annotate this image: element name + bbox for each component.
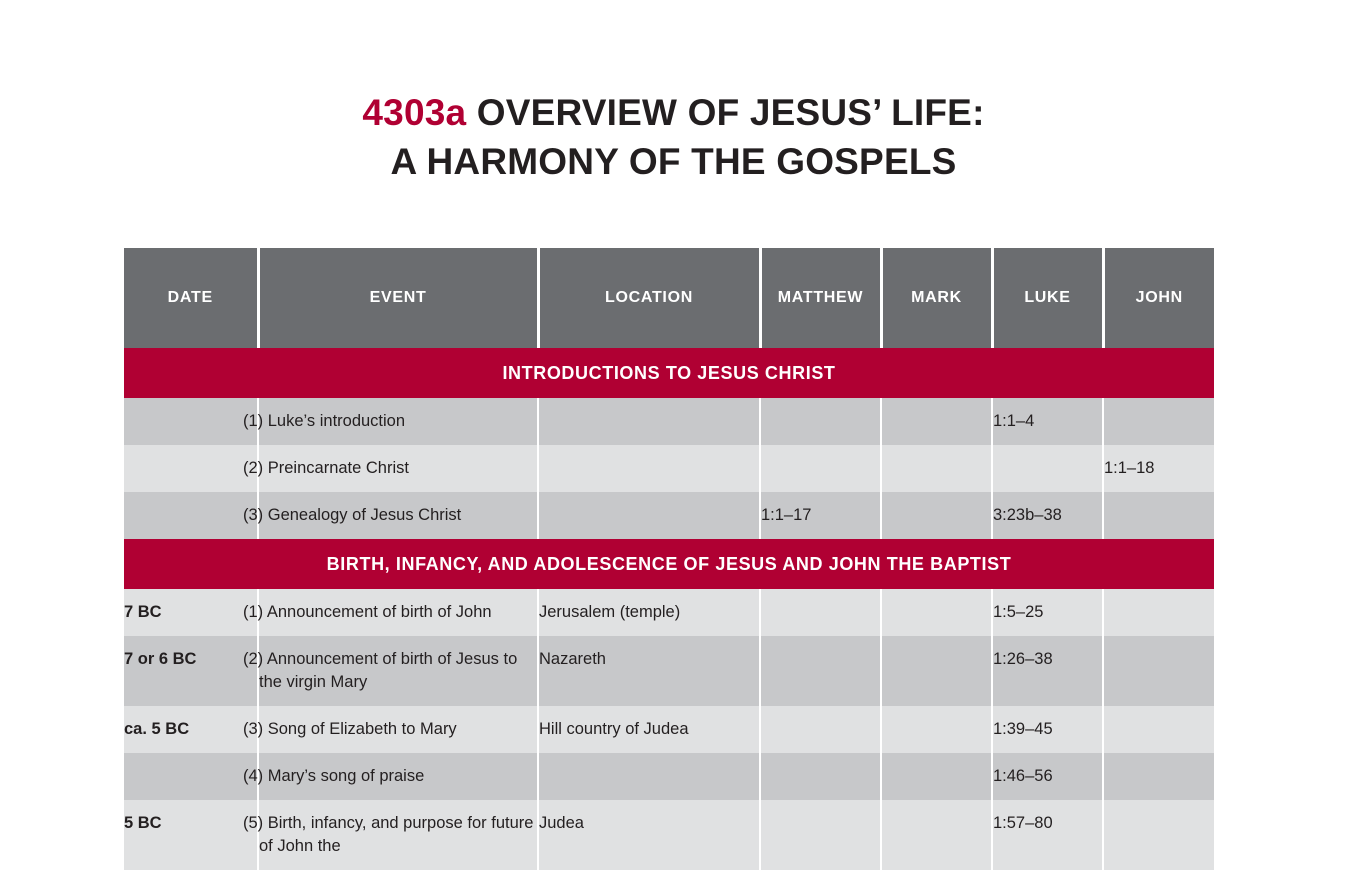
cell-location: Nazareth [538, 636, 760, 706]
cell-date: 5 BC [124, 800, 258, 870]
cell-mark [881, 492, 992, 539]
cell-date: 7 or 6 BC [124, 636, 258, 706]
cell-location [538, 753, 760, 800]
cell-john: 1:1–18 [1103, 445, 1214, 492]
cell-luke: 3:23b–38 [992, 492, 1103, 539]
cell-event: (1) Luke’s introduction [258, 398, 538, 445]
table-row[interactable]: 7 or 6 BC (2) Announcement of birth of J… [124, 636, 1214, 706]
cell-location: Judea [538, 800, 760, 870]
cell-john [1103, 800, 1214, 870]
section-header-row: INTRODUCTIONS TO JESUS CHRIST [124, 348, 1214, 398]
cell-matthew [760, 800, 881, 870]
cell-mark [881, 445, 992, 492]
section-header-row: BIRTH, INFANCY, AND ADOLESCENCE OF JESUS… [124, 539, 1214, 589]
table-row[interactable]: 5 BC (5) Birth, infancy, and purpose for… [124, 800, 1214, 870]
page-title-line-1-rest: OVERVIEW OF JESUS’ LIFE: [466, 92, 984, 133]
table-row[interactable]: (3) Genealogy of Jesus Christ 1:1–17 3:2… [124, 492, 1214, 539]
cell-john [1103, 753, 1214, 800]
cell-john [1103, 636, 1214, 706]
cell-event: (3) Song of Elizabeth to Mary [258, 706, 538, 753]
cell-john [1103, 589, 1214, 636]
section-heading-introductions: INTRODUCTIONS TO JESUS CHRIST [124, 348, 1214, 398]
table-header-row: DATE EVENT LOCATION MATTHEW MARK LUKE JO… [124, 248, 1214, 348]
cell-matthew [760, 636, 881, 706]
cell-matthew [760, 706, 881, 753]
cell-event: (3) Genealogy of Jesus Christ [258, 492, 538, 539]
cell-mark [881, 706, 992, 753]
cell-matthew: 1:1–17 [760, 492, 881, 539]
cell-matthew [760, 398, 881, 445]
cell-event: (1) Announcement of birth of John [258, 589, 538, 636]
table-row[interactable]: (1) Luke’s introduction 1:1–4 [124, 398, 1214, 445]
column-header-location[interactable]: LOCATION [538, 248, 760, 348]
table-row[interactable]: (4) Mary’s song of praise 1:46–56 [124, 753, 1214, 800]
cell-luke: 1:46–56 [992, 753, 1103, 800]
harmony-table: DATE EVENT LOCATION MATTHEW MARK LUKE JO… [124, 248, 1214, 870]
cell-date [124, 445, 258, 492]
table-body: INTRODUCTIONS TO JESUS CHRIST (1) Luke’s… [124, 348, 1214, 870]
cell-john [1103, 398, 1214, 445]
column-header-date[interactable]: DATE [124, 248, 258, 348]
cell-mark [881, 398, 992, 445]
harmony-table-container: DATE EVENT LOCATION MATTHEW MARK LUKE JO… [124, 248, 1214, 870]
column-header-luke[interactable]: LUKE [992, 248, 1103, 348]
cell-location: Jerusalem (temple) [538, 589, 760, 636]
cell-date: ca. 5 BC [124, 706, 258, 753]
cell-date [124, 492, 258, 539]
page-title-code: 4303a [362, 92, 466, 133]
cell-event: (4) Mary’s song of praise [258, 753, 538, 800]
cell-luke: 1:1–4 [992, 398, 1103, 445]
section-heading-birth-infancy: BIRTH, INFANCY, AND ADOLESCENCE OF JESUS… [124, 539, 1214, 589]
cell-luke: 1:39–45 [992, 706, 1103, 753]
cell-date: 7 BC [124, 589, 258, 636]
cell-event: (5) Birth, infancy, and purpose for futu… [258, 800, 538, 870]
page-title-line-1: 4303a OVERVIEW OF JESUS’ LIFE: [0, 88, 1347, 137]
cell-luke: 1:57–80 [992, 800, 1103, 870]
cell-mark [881, 589, 992, 636]
cell-matthew [760, 445, 881, 492]
cell-location [538, 445, 760, 492]
page-title: 4303a OVERVIEW OF JESUS’ LIFE: A HARMONY… [0, 0, 1347, 186]
table-row[interactable]: 7 BC (1) Announcement of birth of John J… [124, 589, 1214, 636]
cell-mark [881, 800, 992, 870]
cell-location: Hill country of Judea [538, 706, 760, 753]
cell-location [538, 492, 760, 539]
table-row[interactable]: (2) Preincarnate Christ 1:1–18 [124, 445, 1214, 492]
page-title-line-2: A HARMONY OF THE GOSPELS [0, 137, 1347, 186]
cell-date [124, 398, 258, 445]
cell-mark [881, 636, 992, 706]
cell-matthew [760, 589, 881, 636]
column-header-mark[interactable]: MARK [881, 248, 992, 348]
column-header-john[interactable]: JOHN [1103, 248, 1214, 348]
cell-location [538, 398, 760, 445]
column-header-matthew[interactable]: MATTHEW [760, 248, 881, 348]
cell-mark [881, 753, 992, 800]
cell-luke [992, 445, 1103, 492]
cell-event: (2) Announcement of birth of Jesus to th… [258, 636, 538, 706]
table-row[interactable]: ca. 5 BC (3) Song of Elizabeth to Mary H… [124, 706, 1214, 753]
cell-date [124, 753, 258, 800]
cell-luke: 1:5–25 [992, 589, 1103, 636]
cell-luke: 1:26–38 [992, 636, 1103, 706]
column-header-event[interactable]: EVENT [258, 248, 538, 348]
cell-event: (2) Preincarnate Christ [258, 445, 538, 492]
cell-matthew [760, 753, 881, 800]
cell-john [1103, 492, 1214, 539]
cell-john [1103, 706, 1214, 753]
